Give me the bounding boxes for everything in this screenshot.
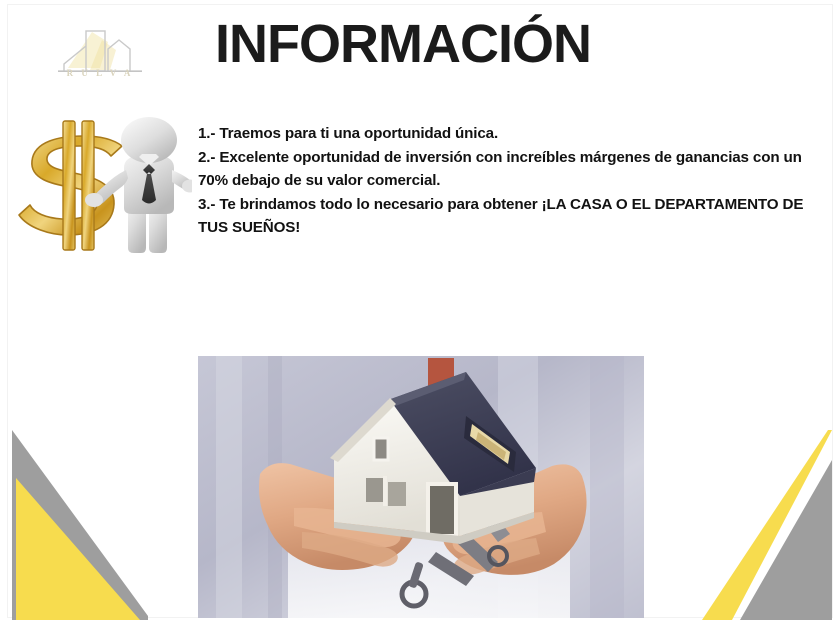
- page-title: INFORMACIÓN: [215, 13, 655, 75]
- info-line-2: 2.- Excelente oportunidad de inversión c…: [198, 146, 818, 193]
- bottom-right-triangles: [692, 430, 832, 620]
- bottom-left-triangles: [8, 430, 148, 620]
- information-list: 1.- Traemos para ti una oportunidad únic…: [198, 122, 818, 240]
- info-line-1: 1.- Traemos para ti una oportunidad únic…: [198, 122, 818, 146]
- logo-wordmark: R U L V A: [46, 68, 154, 78]
- company-logo: R U L V A: [46, 20, 154, 88]
- slide-canvas: R U L V A INFORMACIÓN: [0, 0, 840, 630]
- info-line-3: 3.- Te brindamos todo lo necesario para …: [198, 193, 818, 240]
- dollar-sign-with-businessman-illustration: [6, 108, 192, 258]
- house-photo: [198, 356, 644, 618]
